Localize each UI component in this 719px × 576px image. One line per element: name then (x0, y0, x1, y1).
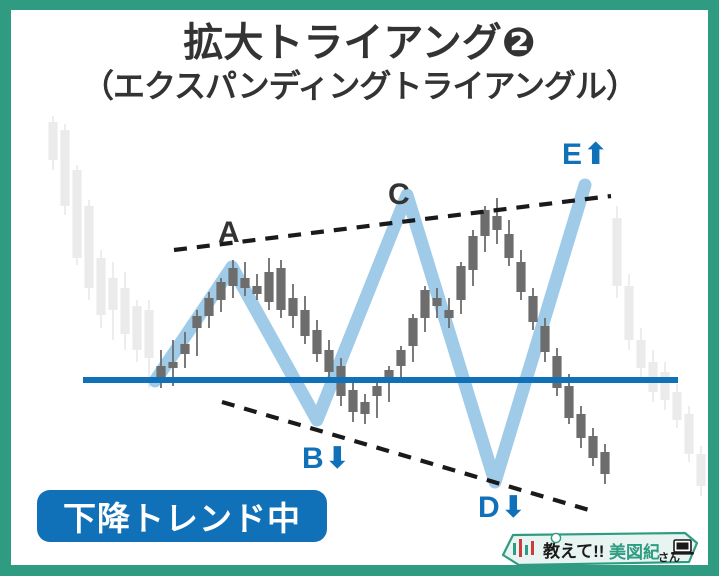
candle-body (180, 344, 189, 354)
candle-body (636, 340, 645, 368)
candle-body (684, 414, 693, 454)
cursor-bubble-icon (551, 533, 560, 542)
candle-body (96, 258, 105, 315)
candle-body (420, 290, 429, 318)
candle-body (300, 310, 309, 336)
candle-body (564, 386, 573, 418)
candle-body (528, 296, 537, 322)
candle-body (120, 288, 129, 334)
arrow-up-icon: ⬆ (583, 140, 608, 170)
candle-body (204, 298, 213, 316)
candle-body (252, 286, 261, 294)
arrow-down-icon: ⬇ (501, 493, 526, 523)
candle-body (192, 316, 201, 328)
candle-group-faded-left (48, 116, 153, 388)
candle-body (60, 130, 69, 206)
candle-body (228, 268, 237, 286)
candle-body (372, 386, 381, 396)
pivot-label-text: A (218, 218, 240, 248)
brand-logo: 教えて!! 美図紀 さん (499, 531, 699, 565)
candle-body (504, 234, 513, 258)
laptop-icon (671, 540, 694, 555)
candle-body (144, 310, 153, 358)
pivot-label-text: E (562, 140, 582, 170)
candle-body (624, 286, 633, 340)
pivot-label-text: D (478, 493, 500, 523)
arrow-down-icon: ⬇ (325, 444, 350, 474)
candle-body (576, 414, 585, 438)
candle-body (696, 454, 705, 486)
page-title: 拡大トライアング❷ (11, 22, 708, 64)
candle-body (348, 390, 357, 412)
candle-body (588, 436, 597, 458)
candle-body (396, 350, 405, 366)
candle-body (84, 206, 93, 288)
candle-body (72, 170, 81, 258)
candle-body (444, 310, 453, 318)
candle-body (492, 216, 501, 230)
status-badge-label: 下降トレンド中 (63, 492, 301, 540)
logo-text-bizuki: 美図紀 (609, 542, 660, 562)
pivot-label-text: B (302, 444, 324, 474)
candle-body (408, 318, 417, 346)
pivot-label-c: C (388, 180, 410, 210)
candle-body (168, 362, 177, 368)
candle-body (552, 356, 561, 388)
candle-body (240, 278, 249, 288)
candle-body (432, 298, 441, 306)
poster-frame: 拡大トライアング❷ （エクスパンディングトライアングル） AB⬇CD⬇E⬆ 下降… (0, 0, 719, 576)
pivot-label-d: D⬇ (478, 493, 526, 523)
candle-body (672, 392, 681, 420)
candle-body (132, 306, 141, 350)
candle-body (276, 268, 285, 310)
candle-body (324, 350, 333, 372)
candle-body (660, 372, 669, 400)
candle-body (312, 330, 321, 354)
candle-group-faded-right (612, 206, 705, 496)
candle-body (540, 326, 549, 352)
poster-canvas: 拡大トライアング❷ （エクスパンディングトライアングル） AB⬇CD⬇E⬆ 下降… (11, 10, 708, 565)
candle-body (360, 402, 369, 414)
pivot-label-b: B⬇ (302, 444, 350, 474)
candle-body (264, 272, 273, 302)
candle-body (468, 236, 477, 270)
candle-body (288, 298, 297, 316)
candle-body (600, 452, 609, 474)
candle-body (108, 278, 117, 310)
pivot-label-e: E⬆ (562, 140, 608, 170)
status-badge: 下降トレンド中 (37, 490, 327, 542)
page-subtitle: （エクスパンディングトライアングル） (11, 70, 708, 104)
candle-body (48, 122, 57, 160)
pivot-label-a: A (218, 218, 240, 248)
candle-body (516, 262, 525, 292)
candle-body (216, 282, 225, 300)
candle-body (612, 218, 621, 286)
candle-body (456, 266, 465, 300)
logo-text-oshiete: 教えて!! (542, 541, 604, 561)
pivot-label-text: C (388, 180, 410, 210)
